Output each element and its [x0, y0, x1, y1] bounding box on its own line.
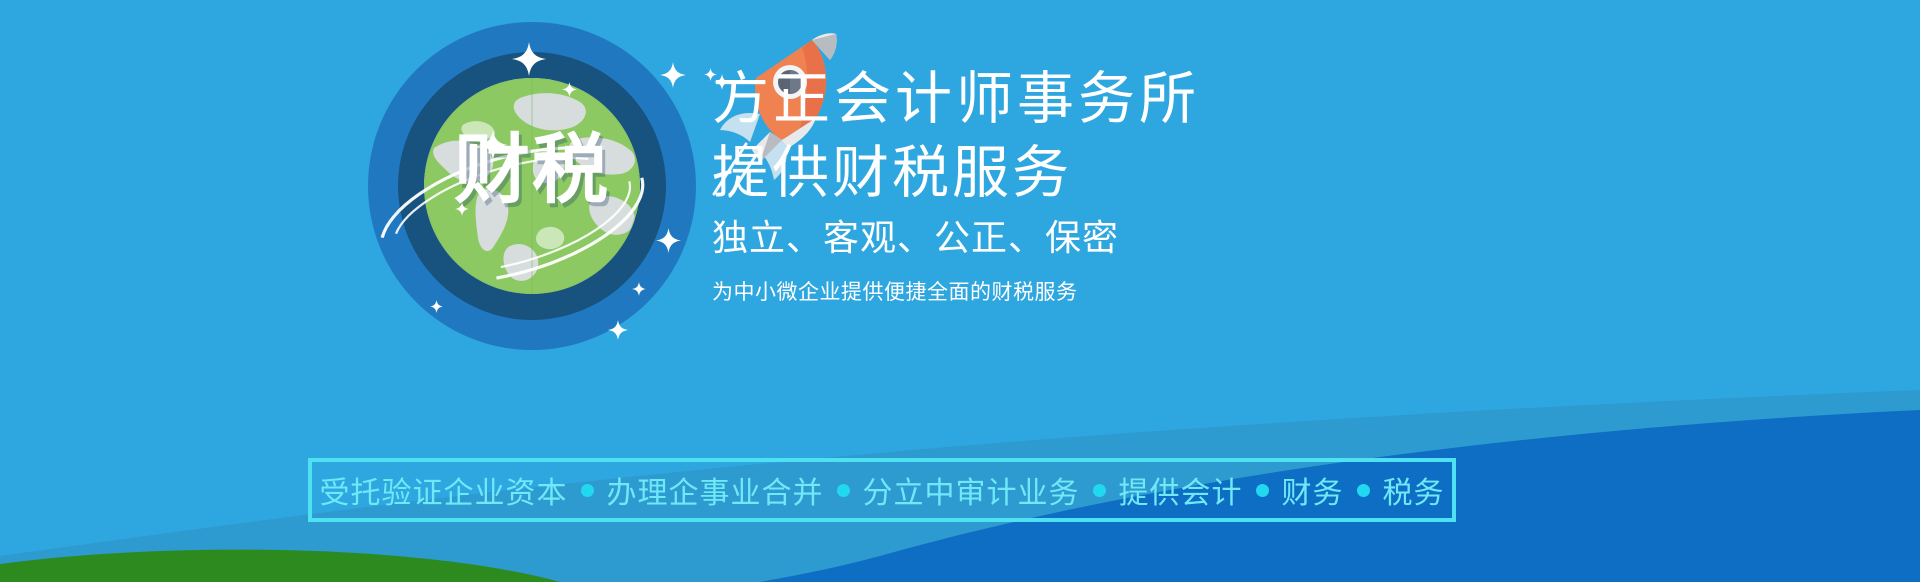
services-separator-dot [1256, 484, 1269, 497]
service-item: 办理企事业合并 [607, 468, 824, 512]
service-item: 税务 [1383, 468, 1445, 512]
headline-line-1: 方正会计师事务所 [712, 62, 1472, 136]
sparkle-icon [562, 82, 577, 97]
service-item: 分立中审计业务 [863, 468, 1080, 512]
sparkle-icon [455, 202, 469, 216]
services-list: 受托验证企业资本办理企事业合并分立中审计业务提供会计财务税务 [320, 468, 1445, 512]
service-item: 受托验证企业资本 [320, 468, 568, 512]
headline-line-2: 提供财税服务 [712, 136, 1472, 210]
services-separator-dot [581, 484, 594, 497]
services-separator-dot [1357, 484, 1370, 497]
service-item: 财务 [1282, 468, 1344, 512]
sparkle-icon [512, 42, 546, 76]
sparkle-icon [608, 320, 628, 340]
services-box: 受托验证企业资本办理企事业合并分立中审计业务提供会计财务税务 [308, 458, 1456, 522]
promo-banner: 财税 方正会计师事务所 [0, 0, 1920, 582]
copy-block: 方正会计师事务所 提供财税服务 独立、客观、公正、保密 为中小微企业提供便捷全面… [712, 62, 1472, 312]
emblem-word: 财税 [400, 132, 664, 208]
sparkle-icon [656, 228, 681, 253]
services-separator-dot [1093, 484, 1106, 497]
services-separator-dot [837, 484, 850, 497]
sparkle-icon [660, 62, 686, 88]
tagline: 为中小微企业提供便捷全面的财税服务 [712, 272, 1472, 312]
service-item: 提供会计 [1119, 468, 1243, 512]
sparkle-icon [632, 282, 646, 296]
sparkle-icon [430, 300, 443, 313]
wave-green [0, 550, 560, 582]
subheadline: 独立、客观、公正、保密 [712, 210, 1472, 268]
sparkle-icon [478, 130, 508, 160]
